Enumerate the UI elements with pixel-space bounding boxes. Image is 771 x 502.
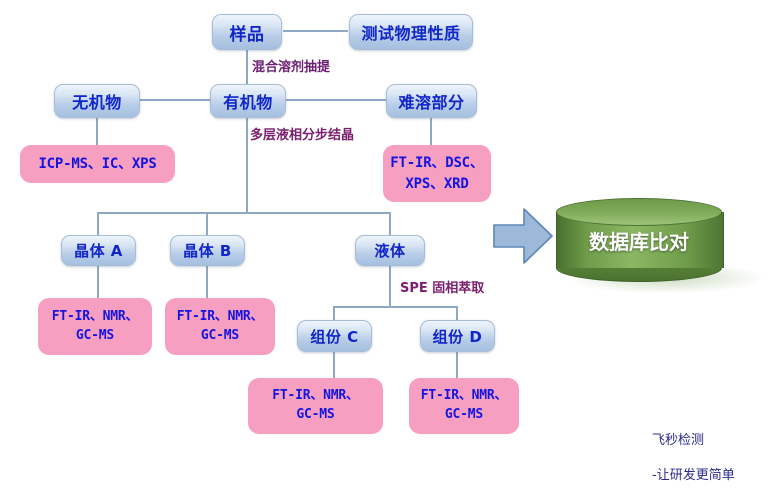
connector-organic-to-insoluble (283, 99, 387, 101)
node-organic-label: 有机物 (223, 89, 273, 113)
node-crystal-b[interactable]: 晶体 B (170, 235, 245, 266)
label-fractional-crystallization: 多层液相分步结晶 (250, 124, 354, 143)
node-insoluble-label: 难溶部分 (398, 89, 464, 113)
connector-inorganic-to-organic (136, 99, 211, 101)
pink-box-insoluble-methods-line1: FT-IR、DSC、 (390, 153, 483, 173)
connector-spe-branch-bar (333, 306, 457, 308)
connector-component-d-to-methods (456, 350, 458, 378)
pink-box-component-d-methods: FT-IR、NMR、 GC-MS (409, 378, 519, 434)
label-spe: SPE 固相萃取 (400, 277, 484, 296)
connector-branch-to-crystal-a (97, 212, 99, 235)
connector-branch-to-component-c (333, 306, 335, 320)
watermark: 飞秒检测 -让研发更简单 (652, 414, 735, 502)
pink-box-crystal-b-methods-line2: GC-MS (201, 327, 239, 346)
pink-box-inorganic-methods-text: ICP-MS、IC、XPS (38, 154, 156, 174)
pink-box-crystal-b-methods-line1: FT-IR、NMR、 (177, 308, 264, 327)
connector-branch-to-liquid (389, 212, 391, 235)
pink-box-insoluble-methods-line2: XPS、XRD (405, 174, 468, 194)
pink-box-insoluble-methods: FT-IR、DSC、 XPS、XRD (383, 145, 491, 202)
watermark-line2: -让研发更简单 (652, 467, 735, 485)
node-sample[interactable]: 样品 (212, 14, 282, 50)
label-mixed-solvent-text: 混合溶剂抽提 (252, 60, 330, 75)
pink-box-component-d-methods-line2: GC-MS (445, 406, 483, 425)
connector-branch-to-crystal-b (206, 212, 208, 235)
database-cylinder-label-wrap: 数据库比对 (556, 212, 722, 268)
pink-box-crystal-a-methods-line2: GC-MS (76, 327, 114, 346)
connector-sample-to-physical (283, 30, 348, 32)
node-organic[interactable]: 有机物 (210, 84, 286, 118)
node-liquid[interactable]: 液体 (355, 235, 425, 266)
node-physical-test-label: 测试物理性质 (361, 20, 460, 44)
pink-box-crystal-a-methods-line1: FT-IR、NMR、 (52, 308, 139, 327)
pink-box-component-d-methods-line1: FT-IR、NMR、 (421, 387, 508, 406)
node-inorganic-label: 无机物 (72, 89, 122, 113)
label-spe-text: SPE 固相萃取 (400, 281, 484, 296)
connector-organic-trunk (246, 117, 248, 213)
node-component-c-label: 组份 C (310, 326, 358, 347)
pink-box-component-c-methods-line2: GC-MS (296, 406, 334, 425)
connector-inorganic-to-methods (96, 117, 98, 145)
connector-branch-bar (97, 212, 391, 214)
node-component-d-label: 组份 D (433, 326, 483, 347)
connector-crystal-b-to-methods (206, 263, 208, 298)
connector-liquid-trunk (389, 263, 391, 307)
pink-box-component-c-methods-line1: FT-IR、NMR、 (272, 387, 359, 406)
node-component-d[interactable]: 组份 D (420, 320, 495, 352)
pink-box-component-c-methods: FT-IR、NMR、 GC-MS (248, 378, 383, 434)
label-fractional-crystallization-text: 多层液相分步结晶 (250, 128, 354, 143)
connector-crystal-a-to-methods (97, 263, 99, 298)
watermark-line1: 飞秒检测 (652, 432, 735, 450)
node-crystal-b-label: 晶体 B (183, 240, 232, 261)
node-crystal-a[interactable]: 晶体 A (61, 235, 136, 266)
connector-insoluble-to-methods (430, 117, 432, 145)
label-mixed-solvent: 混合溶剂抽提 (252, 56, 330, 75)
node-crystal-a-label: 晶体 A (74, 240, 123, 261)
node-component-c[interactable]: 组份 C (297, 320, 372, 352)
connector-component-c-to-methods (333, 350, 335, 378)
flowchart-canvas: 样品 测试物理性质 混合溶剂抽提 无机物 有机物 难溶部分 多层液相分步结晶 I… (0, 0, 771, 468)
database-cylinder[interactable]: 数据库比对 (556, 198, 722, 282)
database-cylinder-label: 数据库比对 (589, 226, 689, 255)
node-physical-test[interactable]: 测试物理性质 (349, 14, 473, 50)
flow-arrow-icon (492, 205, 554, 267)
node-liquid-label: 液体 (374, 240, 405, 261)
node-insoluble[interactable]: 难溶部分 (386, 84, 477, 118)
pink-box-inorganic-methods: ICP-MS、IC、XPS (20, 145, 175, 183)
connector-branch-to-component-d (456, 306, 458, 320)
pink-box-crystal-a-methods: FT-IR、NMR、 GC-MS (38, 298, 152, 355)
node-inorganic[interactable]: 无机物 (54, 84, 140, 118)
pink-box-crystal-b-methods: FT-IR、NMR、 GC-MS (165, 298, 275, 355)
node-sample-label: 样品 (230, 20, 265, 45)
